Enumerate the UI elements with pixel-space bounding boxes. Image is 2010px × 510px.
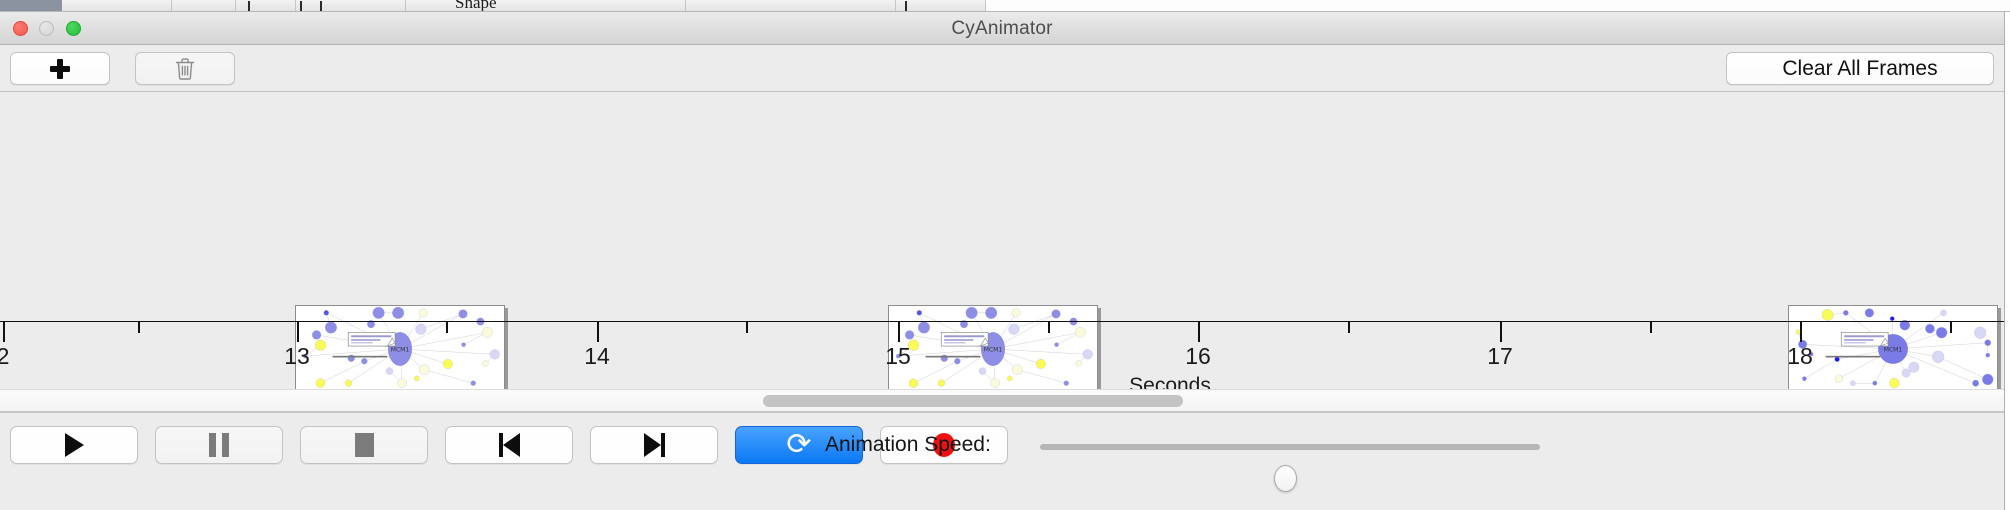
loop-icon: ⟳ [786,430,811,460]
svg-text:MCM1: MCM1 [984,347,1003,354]
timeline-ruler [0,321,2004,322]
stop-icon [355,433,374,457]
window-title: CyAnimator [0,12,2004,45]
bg-partial-label: Shape [455,0,497,12]
timeline-scrollbar[interactable] [0,389,2004,411]
ruler-tick-label: 2 [0,343,9,370]
bg-cell [686,0,896,12]
clear-all-frames-button[interactable]: Clear All Frames [1726,52,1994,85]
ruler-tick-minor [138,322,140,333]
transport-bar: ⟳ Animation Speed: [0,412,2004,476]
trash-icon [174,57,196,81]
frames-toolbar: Clear All Frames [0,45,2004,92]
ruler-tick-label: 15 [885,343,911,370]
skip-start-button[interactable] [445,426,573,464]
ruler-tick-major [597,322,599,342]
animation-speed-slider[interactable] [1040,444,1540,450]
ruler-tick-major [297,322,299,342]
ruler-tick-major [1500,322,1502,342]
ruler-tick-minor [1650,322,1652,333]
frame-thumbnail-3[interactable]: MCM1 [1788,305,1998,391]
animation-speed-thumb[interactable] [1274,465,1297,492]
scrollbar-thumb[interactable] [763,395,1183,407]
bg-selected-cell [0,0,62,12]
stop-button[interactable] [300,426,428,464]
play-button[interactable] [10,426,138,464]
title-bar[interactable]: CyAnimator [0,12,2004,45]
ruler-tick-major [898,322,900,342]
frame-thumbnail-2[interactable]: MCM1 [888,305,1098,391]
ruler-tick-minor [446,322,448,333]
svg-text:MCM1: MCM1 [1884,347,1903,354]
add-frame-button[interactable] [10,52,110,85]
skip-end-button[interactable] [590,426,718,464]
ruler-tick-minor [1950,322,1952,333]
bg-cell [296,0,406,12]
bg-cell [406,0,686,12]
plus-icon [50,59,70,79]
ruler-tick-minor [1048,322,1050,333]
skip-end-icon [644,433,665,457]
timeline-panel[interactable]: MCM1MCM1MCM1 2131415161718 Seconds [0,92,2004,412]
ruler-tick-label: 18 [1787,343,1813,370]
ruler-tick-label: 16 [1185,343,1211,370]
bg-cell [172,0,236,12]
ruler-tick-minor [1348,322,1350,333]
bg-mark [248,1,250,12]
pause-icon [209,433,229,457]
play-icon [65,433,84,457]
bg-cell [62,0,172,12]
bg-mark [320,1,322,12]
delete-frame-button[interactable] [135,52,235,85]
ruler-tick-label: 14 [584,343,610,370]
frame-thumbnail-1[interactable]: MCM1 [295,305,505,391]
pause-button[interactable] [155,426,283,464]
ruler-tick-major [3,322,5,342]
animation-speed-label: Animation Speed: [825,433,991,457]
ruler-tick-major [1800,322,1802,342]
background-window-strip: Shape [0,0,2010,12]
bg-mark [905,1,907,12]
bg-mark [300,1,302,12]
ruler-tick-major [1198,322,1200,342]
cyanimator-window: CyAnimator Clear All Frames MCM1MCM1MCM1… [0,12,2005,510]
bg-cell [236,0,296,12]
bg-cell [896,0,986,12]
ruler-tick-minor [746,322,748,333]
skip-start-icon [499,433,520,457]
svg-text:MCM1: MCM1 [391,347,410,354]
ruler-tick-label: 17 [1487,343,1513,370]
ruler-tick-label: 13 [284,343,310,370]
